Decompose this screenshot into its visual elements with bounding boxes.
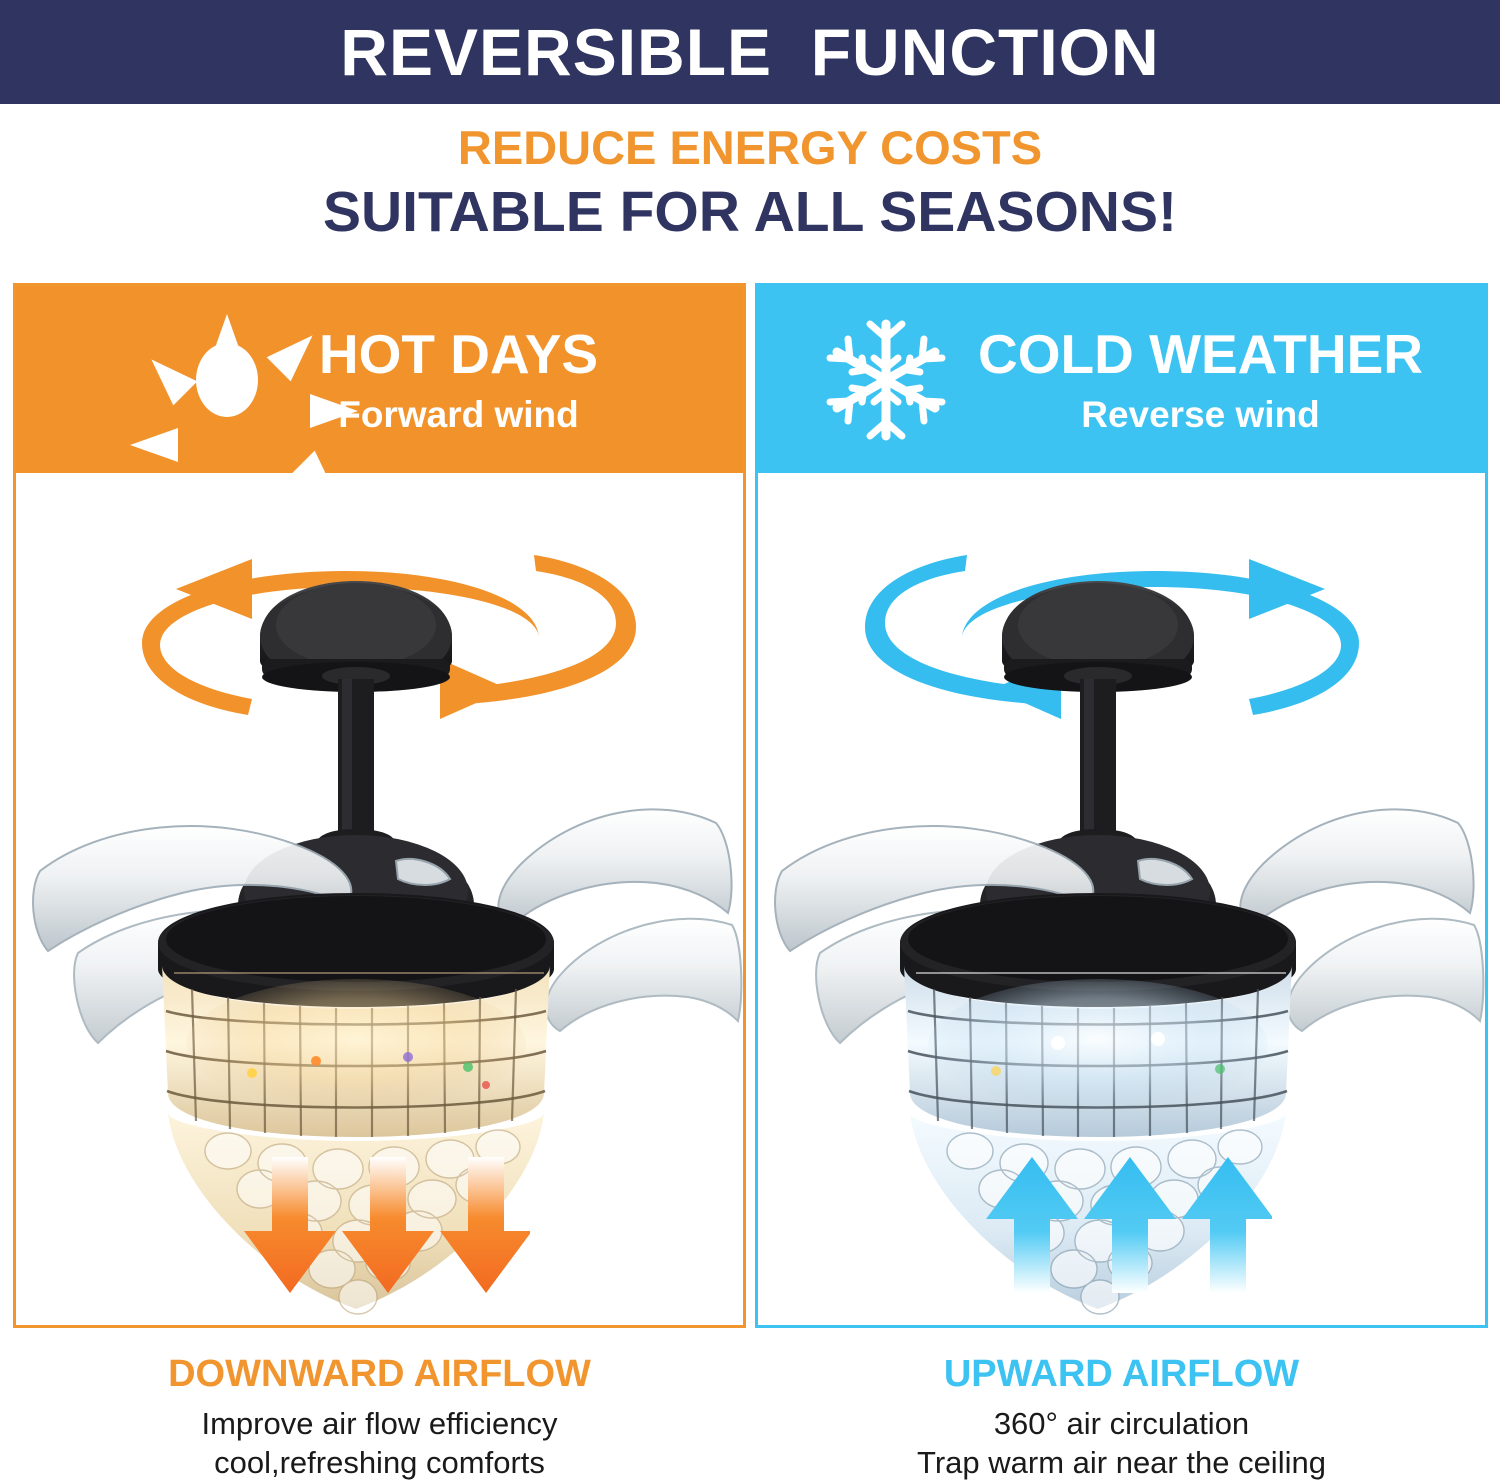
caption-downward: DOWNWARD AIRFLOW Improve air flow effici… (13, 1328, 746, 1483)
panel-hot-days-header: HOT DAYS Forward wind (16, 286, 743, 473)
comparison-panels: HOT DAYS Forward wind (0, 283, 1500, 1328)
panel-cold-weather-heading: COLD WEATHER (978, 327, 1423, 382)
caption-downward-body: Improve air flow efficiency cool,refresh… (13, 1404, 746, 1483)
subtitle-block: REDUCE ENERGY COSTS SUITABLE FOR ALL SEA… (0, 104, 1500, 283)
subtitle-energy: REDUCE ENERGY COSTS (458, 120, 1042, 175)
panel-hot-days: HOT DAYS Forward wind (13, 283, 746, 1328)
subtitle-seasons: SUITABLE FOR ALL SEASONS! (323, 179, 1177, 246)
caption-upward-body: 360° air circulation Trap warm air near … (755, 1404, 1488, 1483)
panel-cold-weather: COLD WEATHER Reverse wind (755, 283, 1488, 1328)
page-title: REVERSIBLE FUNCTION (340, 19, 1159, 85)
sun-icon (161, 314, 293, 446)
panel-hot-days-body (16, 473, 743, 1331)
fan-canopy (260, 581, 452, 692)
panel-hot-days-subheading: Forward wind (338, 396, 579, 433)
captions-row: DOWNWARD AIRFLOW Improve air flow effici… (0, 1328, 1500, 1480)
panel-hot-days-heading: HOT DAYS (319, 327, 598, 382)
fan-canopy (1002, 581, 1194, 692)
snowflake-icon (820, 314, 952, 446)
panel-cold-weather-subheading: Reverse wind (1081, 396, 1320, 433)
panel-cold-weather-header: COLD WEATHER Reverse wind (758, 286, 1485, 473)
panel-cold-weather-body (758, 473, 1485, 1331)
title-bar: REVERSIBLE FUNCTION (0, 0, 1500, 104)
caption-downward-title: DOWNWARD AIRFLOW (13, 1328, 746, 1396)
downward-airflow-arrows (16, 1157, 743, 1297)
caption-upward-title: UPWARD AIRFLOW (755, 1328, 1488, 1396)
upward-airflow-arrows (758, 1157, 1485, 1297)
caption-upward: UPWARD AIRFLOW 360° air circulation Trap… (755, 1328, 1488, 1483)
